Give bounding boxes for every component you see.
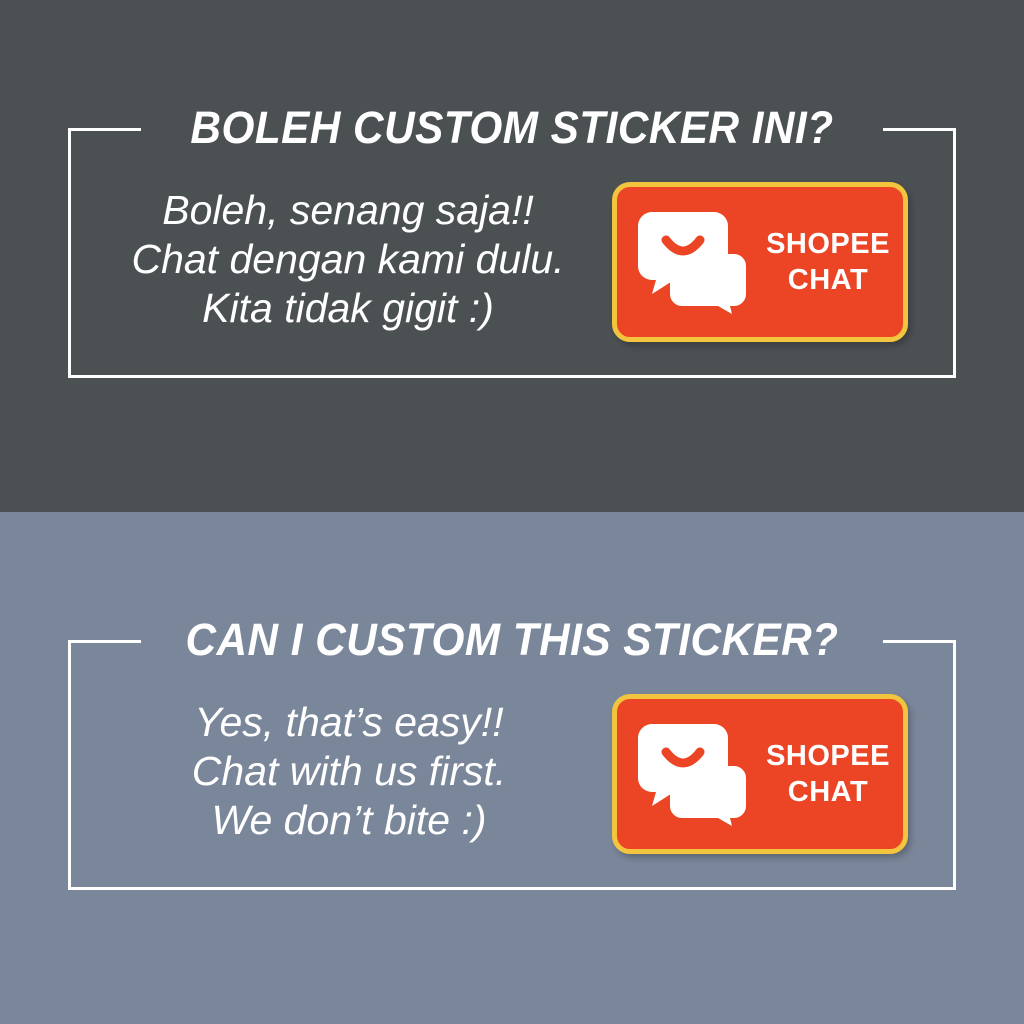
panel-indonesian: BOLEH CUSTOM STICKER INI? Boleh, senang … bbox=[0, 0, 1024, 512]
shopee-chat-button-label: SHOPEE CHAT bbox=[759, 738, 903, 810]
button-label-line-1: SHOPEE bbox=[759, 226, 897, 262]
shopee-chat-bubbles-icon bbox=[629, 207, 759, 317]
button-label-line-2: CHAT bbox=[759, 774, 897, 810]
body-line: We don’t bite :) bbox=[148, 796, 550, 845]
body-copy-indonesian: Boleh, senang saja!! Chat dengan kami du… bbox=[98, 186, 598, 333]
sticker-banner-canvas: BOLEH CUSTOM STICKER INI? Boleh, senang … bbox=[0, 0, 1024, 1024]
body-copy-english: Yes, that’s easy!! Chat with us first. W… bbox=[148, 698, 550, 845]
body-line: Chat dengan kami dulu. bbox=[98, 235, 598, 284]
shopee-chat-button-indonesian[interactable]: SHOPEE CHAT bbox=[612, 182, 908, 342]
body-line: Boleh, senang saja!! bbox=[98, 186, 598, 235]
button-label-line-1: SHOPEE bbox=[759, 738, 897, 774]
body-line: Chat with us first. bbox=[148, 747, 550, 796]
headline-english: CAN I CUSTOM THIS STICKER? bbox=[31, 617, 994, 662]
shopee-chat-button-label: SHOPEE CHAT bbox=[759, 226, 903, 298]
body-line: Yes, that’s easy!! bbox=[148, 698, 550, 747]
shopee-chat-bubbles-icon bbox=[629, 719, 759, 829]
headline-indonesian: BOLEH CUSTOM STICKER INI? bbox=[31, 105, 994, 150]
shopee-chat-button-english[interactable]: SHOPEE CHAT bbox=[612, 694, 908, 854]
body-line: Kita tidak gigit :) bbox=[98, 284, 598, 333]
button-label-line-2: CHAT bbox=[759, 262, 897, 298]
